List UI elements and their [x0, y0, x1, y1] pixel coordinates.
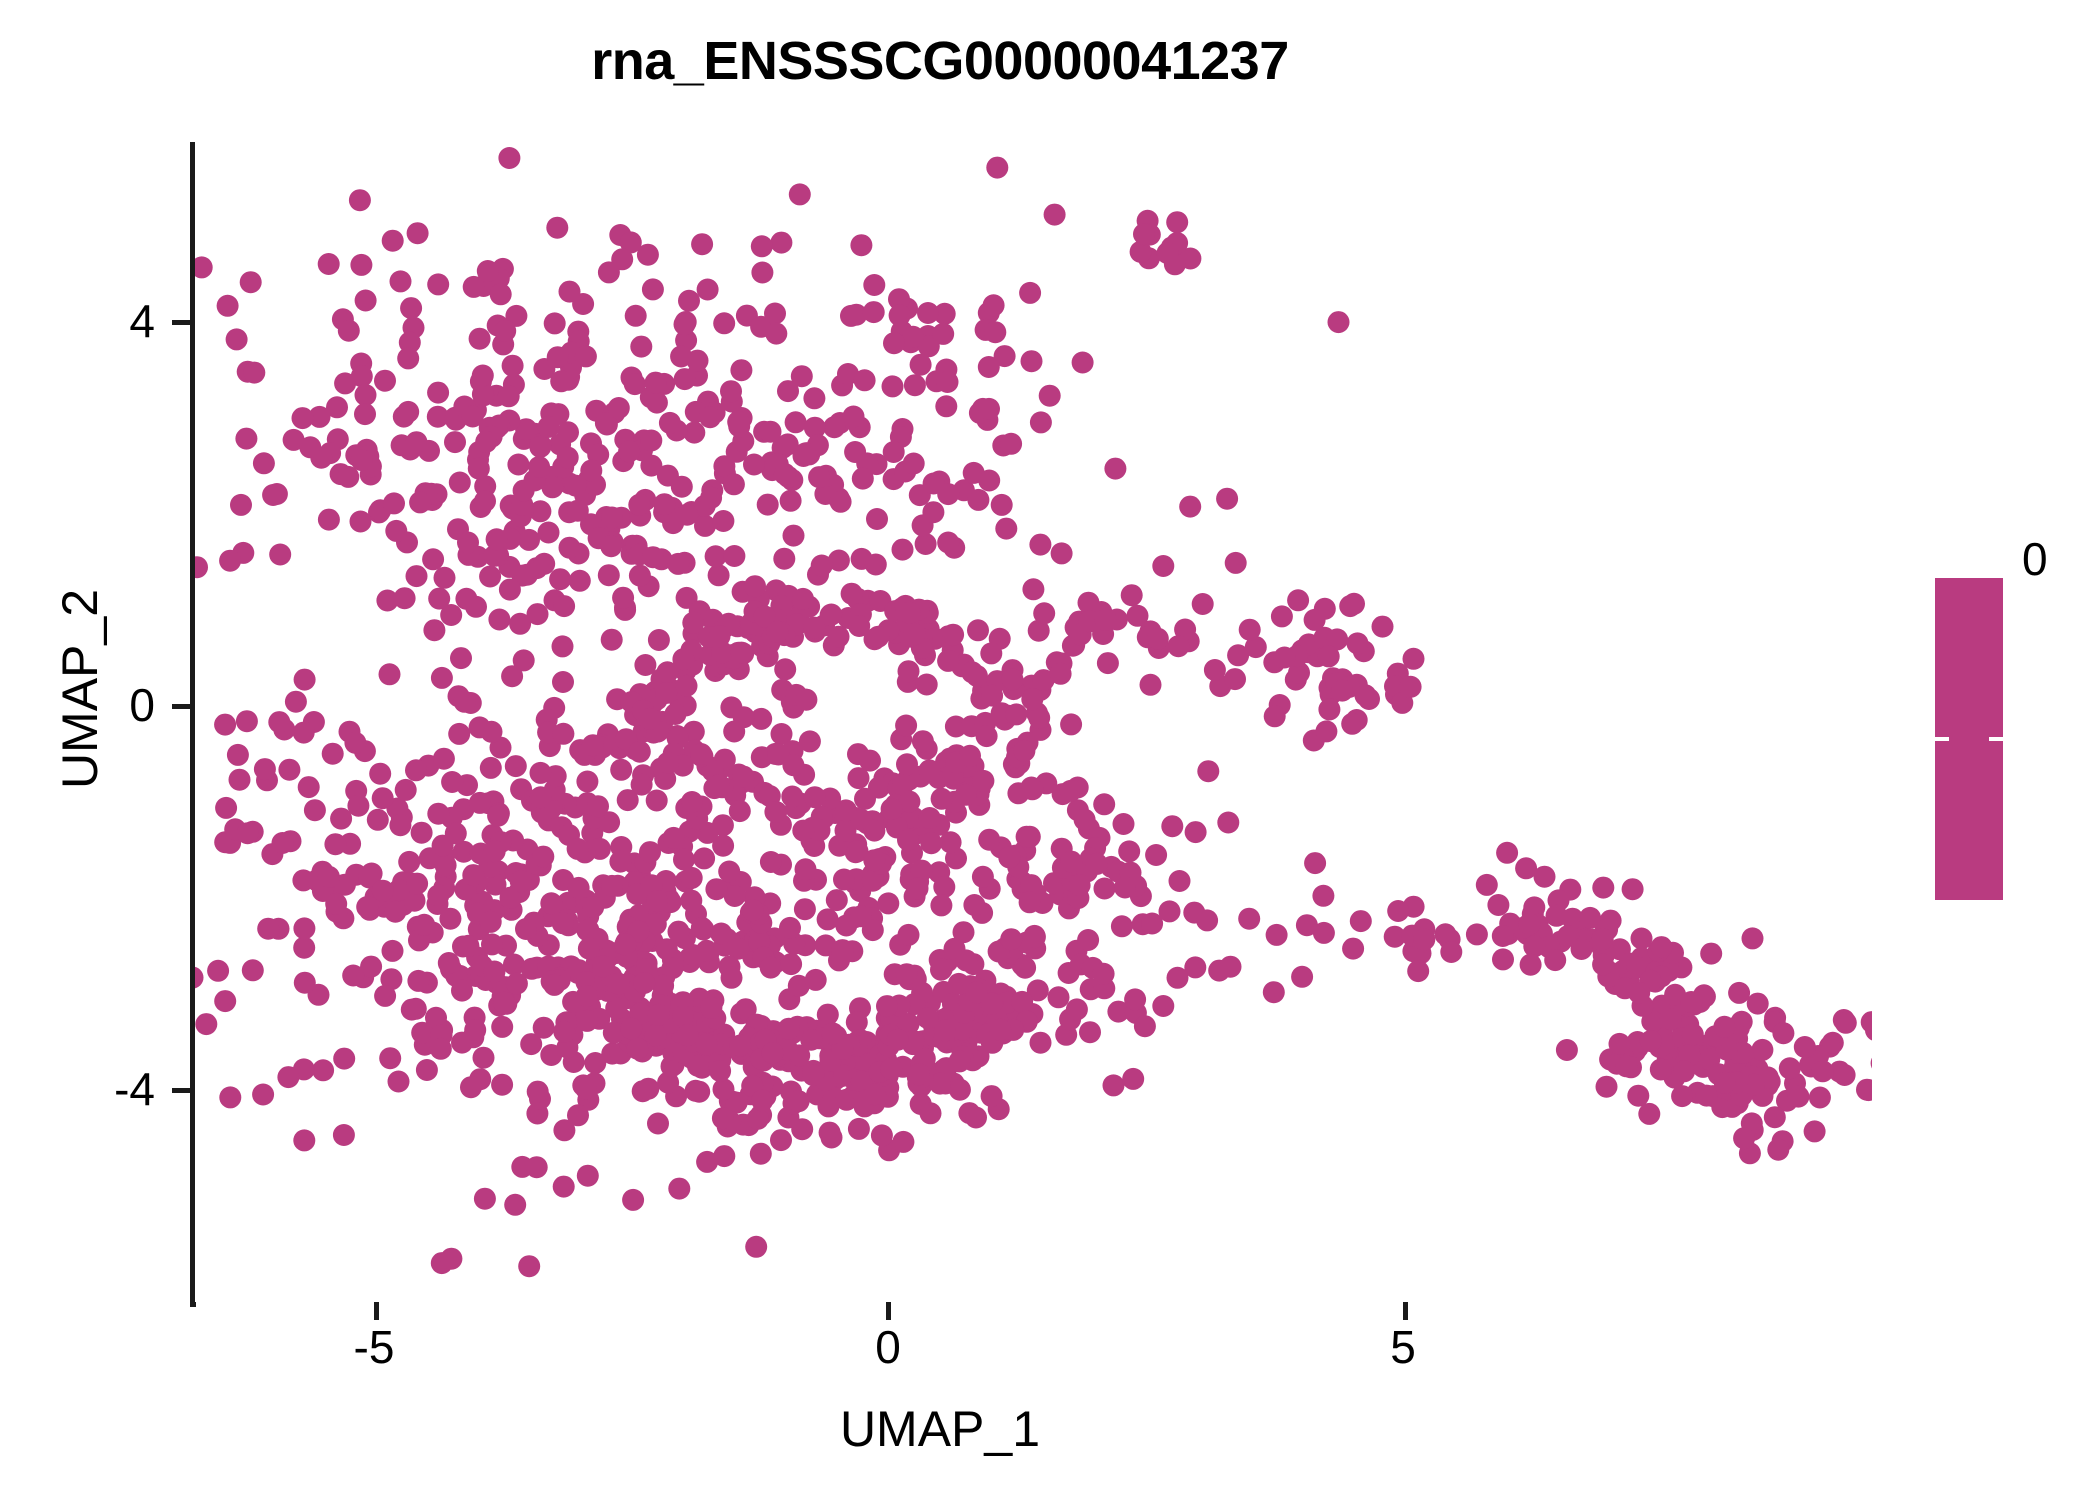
- y-axis-label: UMAP_2: [51, 109, 109, 1269]
- page-title: rna_ENSSSCG00000041237: [0, 30, 1880, 92]
- x-axis-label: UMAP_1: [0, 1400, 1880, 1458]
- y-tick-mark-4: [172, 320, 190, 325]
- legend-tick-label-0: 0: [2022, 532, 2048, 586]
- y-tick-mark-0: [172, 704, 190, 709]
- umap-feature-plot: rna_ENSSSCG00000041237 4 0 -4 -5 0 5 UMA…: [0, 0, 2100, 1500]
- x-tick-label--5: -5: [294, 1320, 454, 1374]
- x-tick-label-0: 0: [808, 1320, 968, 1374]
- x-tick-mark-5: [1403, 1302, 1408, 1320]
- legend-tick-left: [1935, 737, 1949, 741]
- x-tick-mark--5: [374, 1302, 379, 1320]
- x-tick-mark-0: [886, 1302, 891, 1320]
- scatter-points-layer: [195, 142, 1872, 1302]
- legend-colorbar: [1935, 578, 2003, 900]
- x-tick-label-5: 5: [1323, 1320, 1483, 1374]
- y-tick-mark--4: [172, 1088, 190, 1093]
- legend-tick-right: [1989, 737, 2003, 741]
